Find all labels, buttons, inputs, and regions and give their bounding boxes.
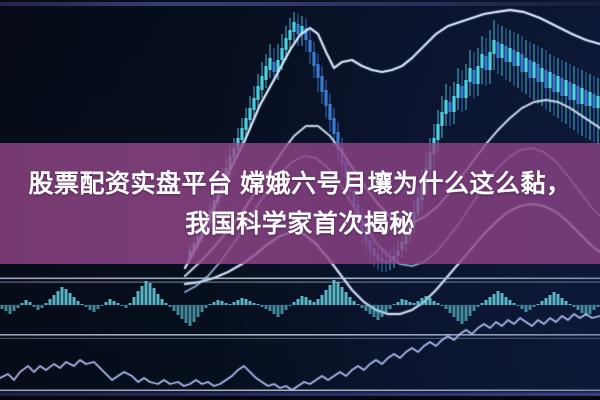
- headline-overlay-band: 股票配资实盘平台 嫦娥六号月壤为什么这么黏， 我国科学家首次揭秘: [0, 143, 600, 264]
- top-accent-shadow: [0, 6, 600, 7]
- bottom-edge-fill: [0, 396, 600, 400]
- headline-line-2: 我国科学家首次揭秘: [185, 204, 415, 244]
- stock-banner-image: 股票配资实盘平台 嫦娥六号月壤为什么这么黏， 我国科学家首次揭秘: [0, 0, 600, 400]
- top-accent-bar: [0, 2, 600, 6]
- headline-line-1: 股票配资实盘平台 嫦娥六号月壤为什么这么黏，: [29, 164, 572, 204]
- bottom-accent-bar: [0, 393, 600, 396]
